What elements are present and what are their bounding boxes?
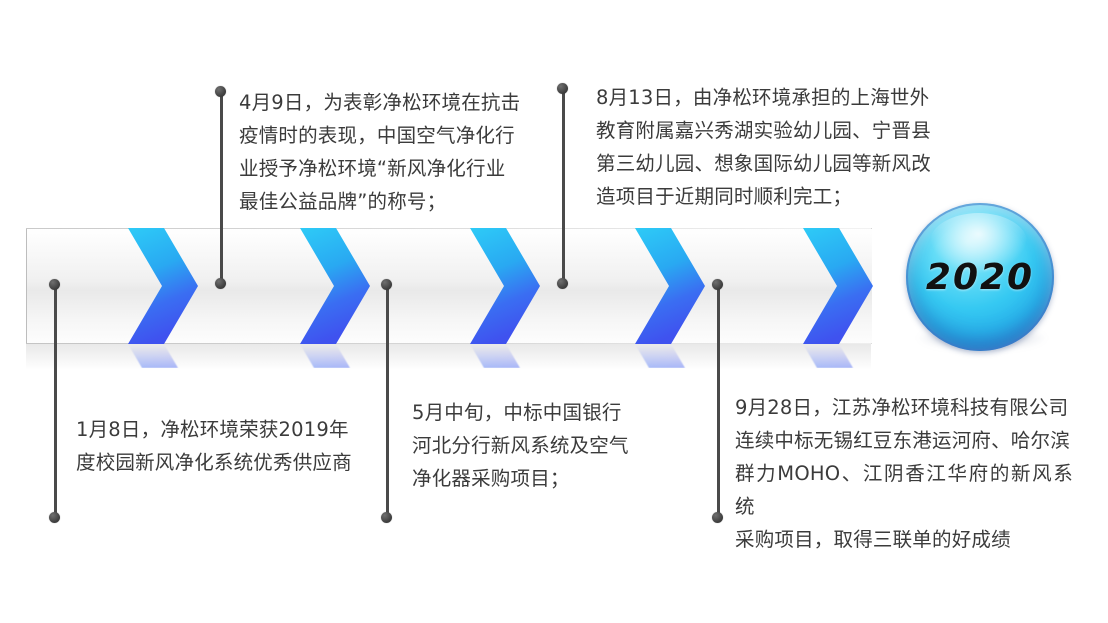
chevron-arrow-4 <box>625 228 721 344</box>
chevron-arrow-3-reflection <box>460 344 556 368</box>
connector-stem <box>220 91 223 284</box>
timeline-infographic: 1月8日，净松环境荣获2019年 度校园新风净化系统优秀供应商 4月9日，为表彰… <box>0 0 1108 623</box>
event-label-apr-9: 4月9日，为表彰净松环境在抗击 疫情时的表现，中国空气净化行 业授予净松环境“新… <box>239 86 539 218</box>
event-label-sep-28: 9月28日，江苏净松环境科技有限公司 连续中标无锡红豆东港运河府、哈尔滨 群力M… <box>735 391 1073 556</box>
event-label-aug-13: 8月13日，由净松环境承担的上海世外 教育附属嘉兴秀湖实验幼儿园、宁晋县 第三幼… <box>596 81 984 213</box>
connector-dot-bottom <box>712 512 723 523</box>
chevron-arrow-3 <box>460 228 556 344</box>
connector-stem <box>386 284 389 518</box>
connector-event-sep-28 <box>712 279 725 523</box>
connector-dot-bottom <box>49 512 60 523</box>
connector-dot-bottom <box>557 278 568 289</box>
chevron-arrow-1-reflection <box>118 344 214 368</box>
connector-dot-top <box>381 279 392 290</box>
connector-dot-top <box>215 86 226 97</box>
connector-stem <box>562 88 565 284</box>
connector-dot-bottom <box>381 512 392 523</box>
connector-stem <box>54 284 57 518</box>
connector-dot-top <box>557 83 568 94</box>
connector-dot-bottom <box>215 278 226 289</box>
chevron-arrow-2-reflection <box>290 344 386 368</box>
chevron-arrow-4-reflection <box>625 344 721 368</box>
connector-event-aug-13 <box>557 83 570 289</box>
year-badge: 2020 <box>906 203 1056 353</box>
chevron-arrow-5 <box>793 228 889 344</box>
event-label-jan-8: 1月8日，净松环境荣获2019年 度校园新风净化系统优秀供应商 <box>76 413 379 479</box>
connector-dot-top <box>712 279 723 290</box>
chevron-arrow-2 <box>290 228 386 344</box>
year-badge-label: 2020 <box>906 203 1054 351</box>
chevron-arrow-1 <box>118 228 214 344</box>
connector-event-may-mid <box>381 279 394 523</box>
chevron-arrow-5-reflection <box>793 344 889 368</box>
year-badge-sphere: 2020 <box>906 203 1054 351</box>
event-label-may-mid: 5月中旬，中标中国银行 河北分行新风系统及空气 净化器采购项目； <box>412 396 664 495</box>
connector-event-jan-8 <box>49 279 62 523</box>
connector-event-apr-9 <box>215 86 228 289</box>
connector-dot-top <box>49 279 60 290</box>
connector-stem <box>717 284 720 518</box>
